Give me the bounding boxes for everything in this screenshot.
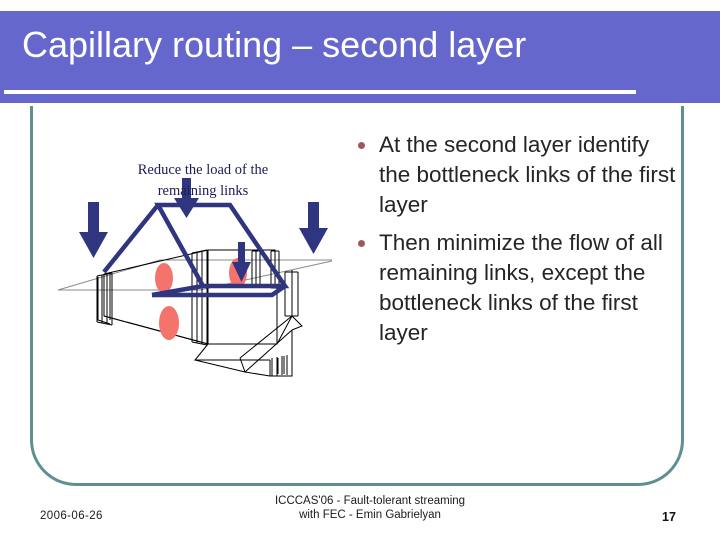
bullet-dot-icon — [358, 240, 365, 247]
bullet-text: At the second layer identify the bottlen… — [379, 130, 678, 220]
page-title: Capillary routing – second layer — [22, 23, 526, 67]
bottleneck-node-marker — [155, 263, 173, 293]
title-banner: Capillary routing – second layer — [0, 11, 720, 103]
capillary-routing-diagram — [40, 120, 350, 380]
load-reduction-arrow-left — [79, 202, 108, 258]
title-underline-rule — [4, 90, 636, 94]
list-item: At the second layer identify the bottlen… — [358, 130, 678, 220]
diagram-annotation: Reduce the load of the remaining links — [118, 160, 288, 202]
bullet-text: Then minimize the flow of all remaining … — [379, 228, 678, 348]
footer-conference-line-1: ICCCAS'06 - Fault-tolerant streaming — [225, 494, 515, 508]
page-number: 17 — [662, 510, 676, 524]
footer-conference-info: ICCCAS'06 - Fault-tolerant streaming wit… — [225, 494, 515, 522]
list-item: Then minimize the flow of all remaining … — [358, 228, 678, 348]
second-layer-flow-path — [158, 205, 285, 286]
load-reduction-arrow-right — [299, 202, 328, 254]
slide-root: Capillary routing – second layer — [0, 0, 720, 540]
bullet-dot-icon — [358, 142, 365, 149]
footer-date: 2006-06-26 — [40, 510, 103, 522]
bottleneck-node-marker — [159, 306, 179, 340]
bottleneck-node-markers — [155, 258, 247, 340]
bullet-list: At the second layer identify the bottlen… — [358, 130, 678, 356]
footer-conference-line-2: with FEC - Emin Gabrielyan — [225, 508, 515, 522]
